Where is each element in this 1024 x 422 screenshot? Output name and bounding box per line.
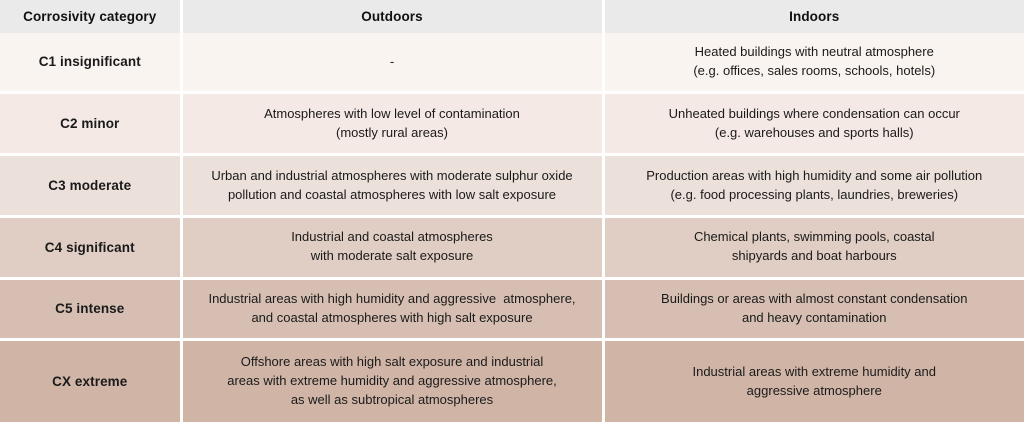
cell-text-line: Offshore areas with high salt exposure a… — [193, 353, 592, 372]
outdoors-description: - — [181, 33, 603, 93]
cell-text-line: (mostly rural areas) — [193, 124, 592, 143]
outdoors-description: Industrial areas with high humidity and … — [181, 278, 603, 340]
outdoors-description: Atmospheres with low level of contaminat… — [181, 93, 603, 155]
indoors-description: Chemical plants, swimming pools, coastal… — [603, 216, 1024, 278]
table-row: C3 moderate Urban and industrial atmosph… — [0, 155, 1024, 217]
indoors-description: Production areas with high humidity and … — [603, 155, 1024, 217]
cell-text-line: (e.g. warehouses and sports halls) — [615, 124, 1015, 143]
cell-text-line: Urban and industrial atmospheres with mo… — [193, 167, 592, 186]
category-label: C5 intense — [0, 278, 181, 340]
header-corrosivity-category: Corrosivity category — [0, 0, 181, 33]
cell-text-line: aggressive atmosphere — [615, 382, 1015, 401]
cell-text-line: - — [193, 53, 592, 72]
cell-text-line: Chemical plants, swimming pools, coastal — [615, 228, 1015, 247]
cell-text-line: and heavy contamination — [615, 309, 1015, 328]
cell-text-line: Industrial areas with extreme humidity a… — [615, 363, 1015, 382]
cell-text-line: as well as subtropical atmospheres — [193, 391, 592, 410]
cell-text-line: Industrial and coastal atmospheres — [193, 228, 592, 247]
table-header: Corrosivity category Outdoors Indoors — [0, 0, 1024, 33]
header-outdoors: Outdoors — [181, 0, 603, 33]
indoors-description: Industrial areas with extreme humidity a… — [603, 340, 1024, 422]
cell-text-line: with moderate salt exposure — [193, 247, 592, 266]
table-row: C4 significant Industrial and coastal at… — [0, 216, 1024, 278]
category-label: CX extreme — [0, 340, 181, 422]
table-body: C1 insignificant - Heated buildings with… — [0, 33, 1024, 422]
cell-text-line: Heated buildings with neutral atmosphere — [615, 43, 1015, 62]
category-label: C4 significant — [0, 216, 181, 278]
table-row: C2 minor Atmospheres with low level of c… — [0, 93, 1024, 155]
category-label: C2 minor — [0, 93, 181, 155]
header-row: Corrosivity category Outdoors Indoors — [0, 0, 1024, 33]
corrosivity-category-table: Corrosivity category Outdoors Indoors C1… — [0, 0, 1024, 422]
cell-text-line: Unheated buildings where condensation ca… — [615, 105, 1015, 124]
cell-text-line: Production areas with high humidity and … — [615, 167, 1015, 186]
category-label: C3 moderate — [0, 155, 181, 217]
indoors-description: Heated buildings with neutral atmosphere… — [603, 33, 1024, 93]
outdoors-description: Urban and industrial atmospheres with mo… — [181, 155, 603, 217]
indoors-description: Buildings or areas with almost constant … — [603, 278, 1024, 340]
cell-text-line: (e.g. offices, sales rooms, schools, hot… — [615, 62, 1015, 81]
cell-text-line: areas with extreme humidity and aggressi… — [193, 372, 592, 391]
table-row: CX extreme Offshore areas with high salt… — [0, 340, 1024, 422]
cell-text-line: Buildings or areas with almost constant … — [615, 290, 1015, 309]
cell-text-line: and coastal atmospheres with high salt e… — [193, 309, 592, 328]
table-row: C5 intense Industrial areas with high hu… — [0, 278, 1024, 340]
outdoors-description: Industrial and coastal atmosphereswith m… — [181, 216, 603, 278]
table-row: C1 insignificant - Heated buildings with… — [0, 33, 1024, 93]
outdoors-description: Offshore areas with high salt exposure a… — [181, 340, 603, 422]
cell-text-line: shipyards and boat harbours — [615, 247, 1015, 266]
cell-text-line: Atmospheres with low level of contaminat… — [193, 105, 592, 124]
indoors-description: Unheated buildings where condensation ca… — [603, 93, 1024, 155]
cell-text-line: (e.g. food processing plants, laundries,… — [615, 186, 1015, 205]
cell-text-line: pollution and coastal atmospheres with l… — [193, 186, 592, 205]
header-indoors: Indoors — [603, 0, 1024, 33]
cell-text-line: Industrial areas with high humidity and … — [193, 290, 592, 309]
category-label: C1 insignificant — [0, 33, 181, 93]
